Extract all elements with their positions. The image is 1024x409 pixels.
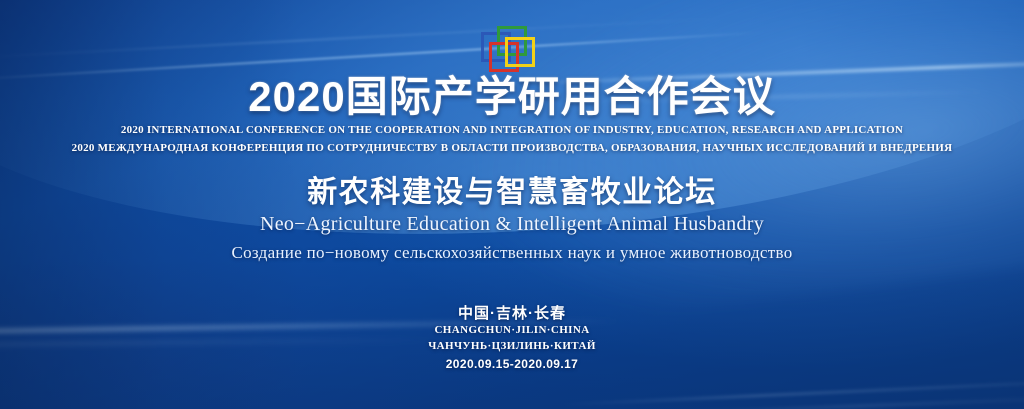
conference-dates: 2020.09.15-2020.09.17 (0, 357, 1024, 371)
forum-title-english: Neo−Agriculture Education & Intelligent … (0, 213, 1024, 236)
banner-content: 2020国际产学研用合作会议 2020 INTERNATIONAL CONFER… (0, 0, 1024, 409)
conference-title-english: 2020 INTERNATIONAL CONFERENCE ON THE COO… (0, 124, 1024, 136)
conference-title-chinese: 2020国际产学研用合作会议 (0, 76, 1024, 118)
forum-title-russian: Создание по−новому сельскохозяйственных … (0, 243, 1024, 263)
location-chinese: 中国·吉林·长春 (0, 302, 1024, 323)
forum-title-chinese: 新农科建设与智慧畜牧业论坛 (0, 178, 1024, 208)
conference-logo-icon (475, 24, 549, 78)
conference-banner: 2020国际产学研用合作会议 2020 INTERNATIONAL CONFER… (0, 0, 1024, 409)
location-russian: ЧАНЧУНЬ·ЦЗИЛИНЬ·КИТАЙ (0, 340, 1024, 352)
logo-yellow-square-icon (505, 37, 535, 67)
conference-title-russian: 2020 МЕЖДУНАРОДНАЯ КОНФЕРЕНЦИЯ ПО СОТРУД… (0, 142, 1024, 154)
location-english: CHANGCHUN·JILIN·CHINA (0, 324, 1024, 336)
